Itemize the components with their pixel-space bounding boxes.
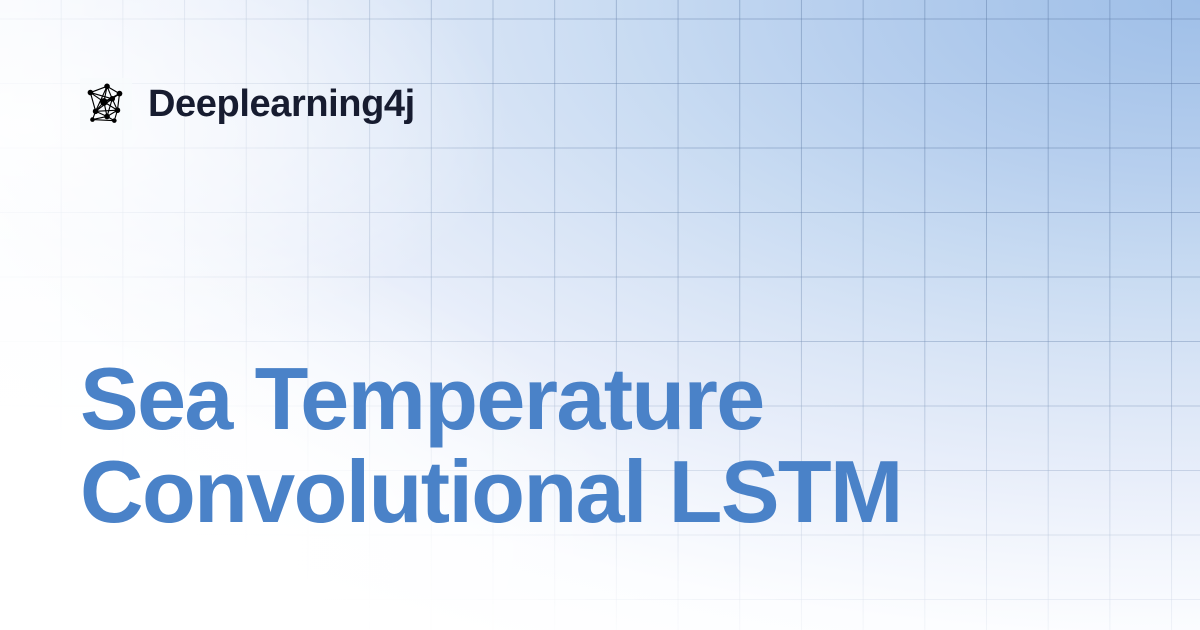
neural-network-graph-icon [80,78,132,130]
brand-name: Deeplearning4j [148,85,415,123]
brand-lockup: Deeplearning4j [80,78,415,130]
page-title-line-1: Sea Temperature [80,352,1080,445]
social-card: Deeplearning4j Sea Temperature Convoluti… [0,0,1200,630]
page-title-line-2: Convolutional LSTM [80,445,1080,538]
page-title: Sea Temperature Convolutional LSTM [80,352,1080,538]
